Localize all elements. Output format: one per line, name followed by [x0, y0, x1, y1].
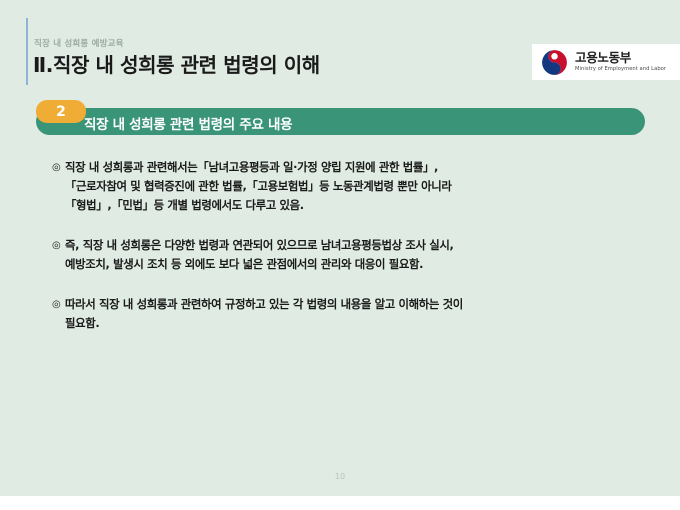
ministry-name-en: Ministry of Employment and Labor — [575, 67, 666, 72]
bullet-line: 즉, 직장 내 성희롱은 다양한 법령과 연관되어 있으므로 남녀고용평등법상 … — [65, 236, 652, 255]
bullet-line: 「형법」,「민법」등 개별 법령에서도 다루고 있음. — [65, 196, 652, 215]
bullet-line: 따라서 직장 내 성희롱과 관련하여 규정하고 있는 각 법령의 내용을 알고 … — [65, 295, 652, 314]
header-accent-line — [26, 18, 28, 85]
slide-eyebrow: 직장 내 성희롱 예방교육 — [34, 37, 124, 49]
page-title: Ⅱ.직장 내 성희롱 관련 법령의 이해 — [33, 49, 320, 78]
bullet-text: 즉, 직장 내 성희롱은 다양한 법령과 연관되어 있으므로 남녀고용평등법상 … — [65, 236, 652, 274]
bullet-marker-icon: ◎ — [52, 236, 65, 255]
bullet-item: ◎ 따라서 직장 내 성희롱과 관련하여 규정하고 있는 각 법령의 내용을 알… — [52, 295, 652, 333]
ministry-logo: 고용노동부 Ministry of Employment and Labor — [532, 44, 680, 80]
slide-canvas: 직장 내 성희롱 예방교육 Ⅱ.직장 내 성희롱 관련 법령의 이해 고용노동부… — [0, 0, 680, 496]
bullet-marker-icon: ◎ — [52, 158, 65, 177]
bullet-item: ◎ 직장 내 성희롱과 관련해서는「남녀고용평등과 일·가정 양립 지원에 관한… — [52, 158, 652, 215]
bullet-line: 직장 내 성희롱과 관련해서는「남녀고용평등과 일·가정 양립 지원에 관한 법… — [65, 158, 652, 177]
bullet-marker-icon: ◎ — [52, 295, 65, 314]
bullet-text: 따라서 직장 내 성희롱과 관련하여 규정하고 있는 각 법령의 내용을 알고 … — [65, 295, 652, 333]
section-number-badge: 2 — [36, 100, 86, 123]
bullet-text: 직장 내 성희롱과 관련해서는「남녀고용평등과 일·가정 양립 지원에 관한 법… — [65, 158, 652, 215]
section-heading-text: 직장 내 성희롱 관련 법령의 주요 내용 — [84, 113, 292, 133]
taegeuk-icon — [541, 49, 568, 76]
body-content: ◎ 직장 내 성희롱과 관련해서는「남녀고용평등과 일·가정 양립 지원에 관한… — [52, 158, 652, 354]
section-number: 2 — [56, 105, 66, 119]
ministry-name-ko: 고용노동부 — [575, 52, 666, 65]
ministry-logo-text: 고용노동부 Ministry of Employment and Labor — [575, 52, 666, 72]
bullet-line: 필요함. — [65, 314, 652, 333]
bullet-line: 「근로자참여 및 협력증진에 관한 법률,「고용보험법」등 노동관계법령 뿐만 … — [65, 177, 652, 196]
bullet-item: ◎ 즉, 직장 내 성희롱은 다양한 법령과 연관되어 있으므로 남녀고용평등법… — [52, 236, 652, 274]
page-number: 10 — [0, 472, 680, 481]
bullet-line: 예방조치, 발생시 조치 등 외에도 보다 넓은 관점에서의 관리와 대응이 필… — [65, 255, 652, 274]
